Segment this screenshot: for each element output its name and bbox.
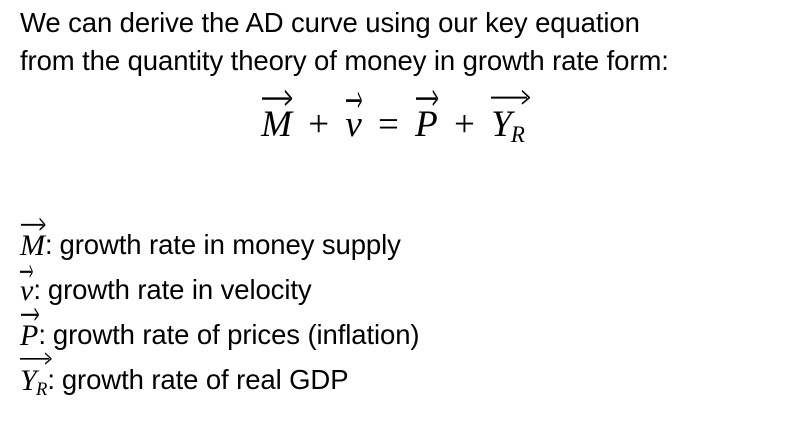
vector-v-symbol: v (20, 274, 33, 306)
vector-v-term: v (345, 104, 361, 143)
operator-plus-1: + (301, 104, 336, 145)
vector-m-term: M (261, 104, 292, 143)
over-arrow-icon (262, 89, 293, 104)
vector-yr-term: YR (491, 104, 525, 147)
vector-p-symbol: P (20, 319, 38, 351)
symbol-p: P (20, 321, 38, 351)
over-arrow-icon (416, 89, 439, 104)
definition-text-real-gdp: growth rate of real GDP (55, 357, 349, 402)
definition-separator: : (38, 312, 46, 357)
intro-line-1: We can derive the AD curve using our key… (20, 4, 780, 42)
definition-list: M : growth rate in money supply v : (20, 222, 766, 402)
symbol-y-subscript-r: R (36, 379, 47, 400)
symbol-y: Y (491, 106, 512, 143)
symbol-y: Y (20, 366, 37, 396)
definition-row-money-supply: M : growth rate in money supply (20, 222, 766, 267)
symbol-m: M (20, 231, 45, 261)
definition-row-velocity: v : growth rate in velocity (20, 267, 766, 312)
definition-symbol-yr: YR (20, 364, 47, 400)
definition-symbol-v: v (20, 274, 33, 306)
definition-separator: : (47, 357, 55, 402)
definition-row-prices: P : growth rate of prices (inflation) (20, 312, 766, 357)
definition-text-prices: growth rate of prices (inflation) (46, 312, 420, 357)
definition-separator: : (45, 222, 53, 267)
definition-row-real-gdp: YR : growth rate of real GDP (20, 357, 766, 402)
vector-p-term: P (415, 104, 438, 143)
intro-line-2: from the quantity theory of money in gro… (20, 42, 780, 80)
vector-m-symbol: M (20, 229, 45, 261)
symbol-v: v (345, 106, 361, 143)
symbol-m: M (261, 106, 292, 143)
symbol-p: P (415, 106, 438, 143)
definition-symbol-m: M (20, 229, 45, 261)
over-arrow-icon (491, 88, 531, 103)
definition-text-money-supply: growth rate in money supply (53, 222, 401, 267)
definition-text-velocity: growth rate in velocity (41, 267, 312, 312)
slide-canvas: We can derive the AD curve using our key… (0, 0, 786, 434)
symbol-y-subscript-r: R (511, 122, 525, 147)
definition-separator: : (33, 267, 41, 312)
definition-symbol-p: P (20, 319, 38, 351)
over-arrow-icon (21, 217, 47, 229)
vector-yr-symbol: YR (20, 364, 47, 400)
intro-paragraph: We can derive the AD curve using our key… (20, 4, 780, 80)
operator-equals: = (371, 104, 406, 145)
equation-block: M + v = (0, 104, 786, 147)
operator-plus-2: + (447, 104, 482, 145)
symbol-v: v (20, 276, 33, 306)
quantity-theory-equation: M + v = (261, 104, 525, 147)
